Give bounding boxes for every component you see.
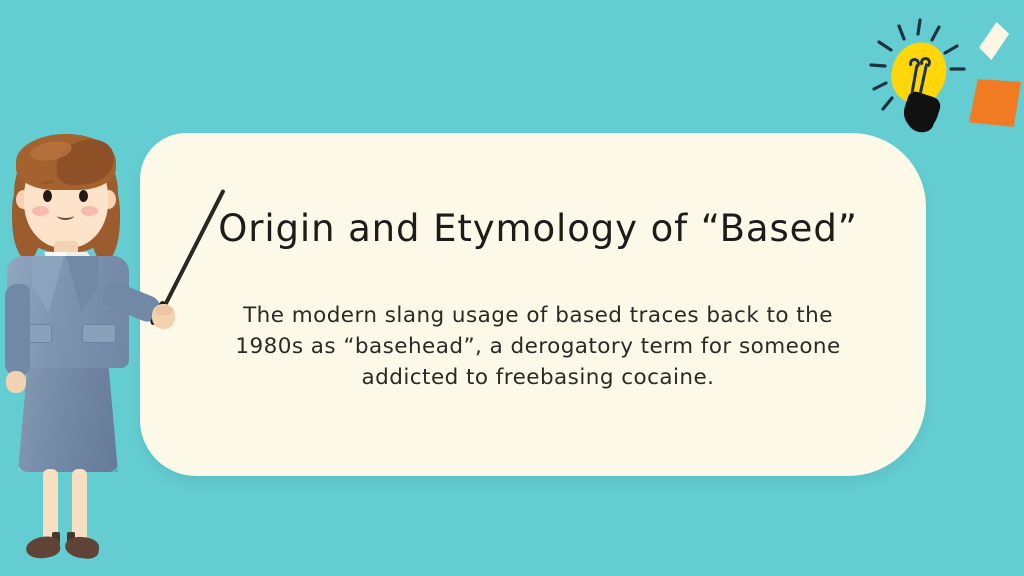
blazer-pocket-right [82, 324, 116, 343]
arm-left [5, 284, 30, 376]
eye-left [43, 190, 52, 202]
page-title: Origin and Etymology of “Based” [218, 207, 858, 250]
skirt-shading [18, 360, 118, 472]
hand-right-fingers [155, 306, 173, 315]
body-paragraph: The modern slang usage of based traces b… [226, 300, 851, 393]
teacher-illustration [0, 128, 205, 548]
content-card-inner: Origin and Etymology of “Based” The mode… [140, 133, 926, 476]
orange-rhombus-shape [969, 79, 1021, 127]
slide-canvas: Origin and Etymology of “Based” The mode… [0, 0, 1024, 576]
blush-left [32, 206, 49, 216]
cream-diamond-shape [977, 19, 1011, 62]
shoe-right [64, 535, 101, 561]
content-card: Origin and Etymology of “Based” The mode… [140, 133, 926, 476]
blush-right [81, 206, 98, 216]
lightbulb-icon [866, 18, 966, 133]
hand-left [6, 371, 26, 393]
mouth-smile [57, 211, 74, 220]
shoe-left [25, 535, 62, 561]
eye-right [79, 190, 88, 202]
